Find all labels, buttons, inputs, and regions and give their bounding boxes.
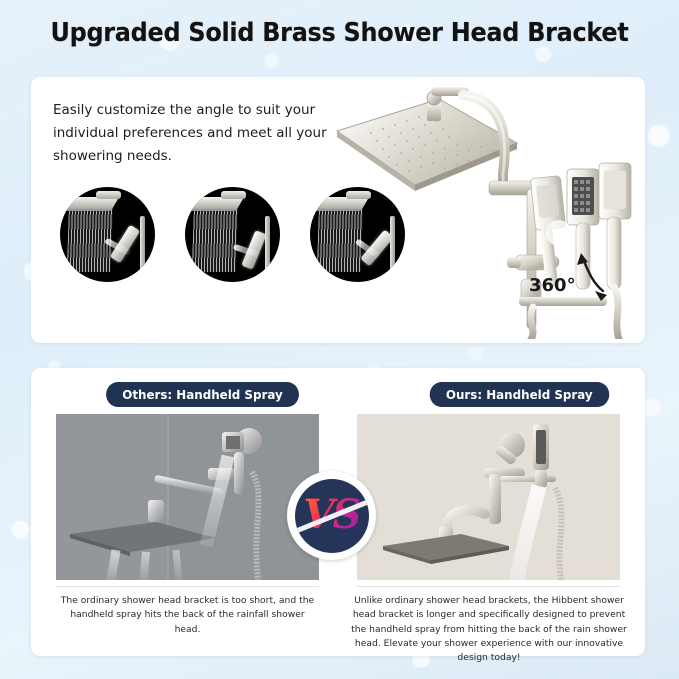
handheld-wand-right bbox=[599, 163, 631, 289]
caption-divider-others bbox=[56, 586, 319, 587]
caption-ours: Unlike ordinary shower head brackets, th… bbox=[351, 594, 627, 665]
handheld-wand-center bbox=[567, 169, 599, 289]
photo-others bbox=[56, 414, 319, 580]
badge-ours: Ours: Handheld Spray bbox=[430, 382, 609, 407]
water-spray-graphic bbox=[66, 200, 112, 272]
slide-bar-graphic bbox=[265, 216, 270, 273]
shower-arm-graphic bbox=[96, 191, 121, 200]
feature-description: Easily customize the angle to suit your … bbox=[53, 99, 328, 169]
caption-divider-ours bbox=[357, 586, 620, 587]
feature-card: Easily customize the angle to suit your … bbox=[31, 77, 645, 343]
vs-badge-disc: VS bbox=[295, 479, 369, 553]
rotation-label: 360° bbox=[529, 275, 576, 296]
angle-view-2-thumbnail bbox=[185, 187, 280, 282]
page-title: Upgraded Solid Brass Shower Head Bracket bbox=[27, 18, 652, 48]
water-spray-graphic bbox=[191, 200, 237, 272]
hero-product-image: 360° bbox=[331, 81, 645, 339]
angle-view-1-thumbnail bbox=[60, 187, 155, 282]
photo-ours bbox=[357, 414, 620, 580]
slide-bar-graphic bbox=[140, 216, 145, 273]
badge-others: Others: Handheld Spray bbox=[106, 382, 299, 407]
vs-badge: VS bbox=[287, 471, 376, 560]
shower-arm-graphic bbox=[221, 191, 246, 200]
caption-others: The ordinary shower head bracket is too … bbox=[56, 594, 319, 637]
